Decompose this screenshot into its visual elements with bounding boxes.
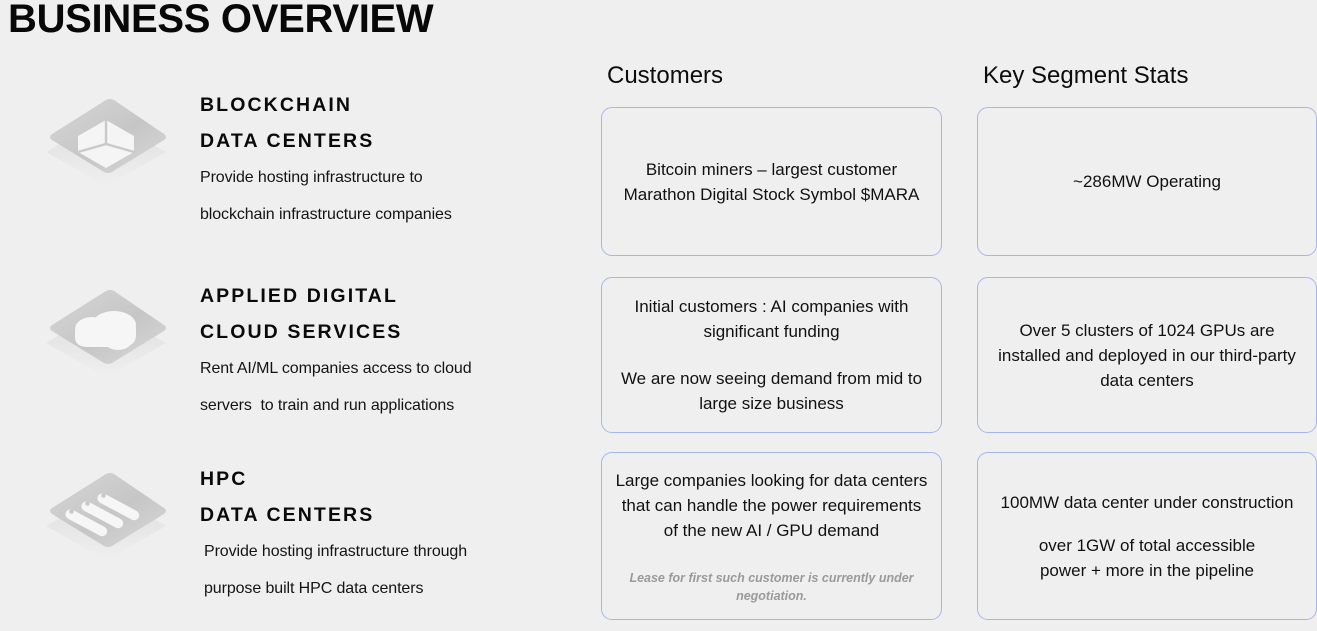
card-line: power + more in the pipeline [1040,561,1254,580]
segment-desc-line2: servers to train and run applications [200,387,595,424]
card-line: 100MW data center under construction [1001,493,1294,512]
segment-title-line2: CLOUD SERVICES [200,315,595,351]
segment-title-line1: APPLIED DIGITAL [200,279,595,315]
card-line: Marathon Digital Stock Symbol $MARA [624,185,920,204]
card-paragraph: Initial customers : AI companies with si… [634,294,908,344]
card-line: data centers [1100,371,1194,390]
card-paragraph: We are now seeing demand from mid to lar… [621,366,922,416]
segment-desc-line2: purpose built HPC data centers [200,570,595,607]
blockchain-cube-icon [30,94,182,190]
card-line: Over 5 clusters of 1024 GPUs are [1019,321,1274,340]
segment-title-line1: HPC [200,462,595,498]
segment-desc-line1: Provide hosting infrastructure through [200,533,595,570]
card-paragraph: 100MW data center under construction [1001,490,1294,515]
segment-desc-line2: blockchain infrastructure companies [200,196,595,233]
stat-card-blockchain: ~286MW Operating [977,107,1317,256]
card-paragraph: ~286MW Operating [1073,169,1221,194]
segment-blockchain: BLOCKCHAIN DATA CENTERS Provide hosting … [0,88,595,233]
stat-card-cloud-services: Over 5 clusters of 1024 GPUs are install… [977,277,1317,433]
slide-root: BUSINESS OVERVIEW [0,0,1317,631]
cloud-icon [30,285,182,381]
column-header-key-segment-stats: Key Segment Stats [983,61,1188,91]
column-header-customers: Customers [607,61,723,91]
segment-text: HPC DATA CENTERS Provide hosting infrast… [200,462,595,607]
card-line: We are now seeing demand from mid to [621,369,922,388]
card-paragraph: Large companies looking for data centers… [616,468,928,543]
card-paragraph: over 1GW of total accessible power + mor… [1039,533,1255,583]
segment-desc-line1: Provide hosting infrastructure to [200,159,595,196]
card-footnote: Lease for first such customer is current… [612,569,931,605]
card-line: that can handle the power requirements [622,496,922,515]
card-paragraph: Over 5 clusters of 1024 GPUs are install… [998,318,1296,393]
server-rack-icon [30,468,182,564]
card-line: large size business [699,394,844,413]
card-line: significant funding [703,322,839,341]
segments-list: BLOCKCHAIN DATA CENTERS Provide hosting … [0,88,595,607]
segment-title-line1: BLOCKCHAIN [200,88,595,124]
page-title: BUSINESS OVERVIEW [8,0,433,42]
card-line: Initial customers : AI companies with [634,297,908,316]
segment-text: BLOCKCHAIN DATA CENTERS Provide hosting … [200,88,595,233]
segment-title-line2: DATA CENTERS [200,124,595,160]
segment-hpc: HPC DATA CENTERS Provide hosting infrast… [0,462,595,607]
segment-title-line2: DATA CENTERS [200,498,595,534]
segment-cloud-services: APPLIED DIGITAL CLOUD SERVICES Rent AI/M… [0,279,595,424]
card-line: Large companies looking for data centers [616,471,928,490]
segment-text: APPLIED DIGITAL CLOUD SERVICES Rent AI/M… [200,279,595,424]
card-paragraph: Bitcoin miners – largest customer Marath… [624,157,920,207]
customer-card-hpc: Large companies looking for data centers… [601,452,942,620]
card-line: installed and deployed in our third-part… [998,346,1296,365]
segment-desc-line1: Rent AI/ML companies access to cloud [200,350,595,387]
stat-card-hpc: 100MW data center under construction ove… [977,452,1317,620]
card-line: Bitcoin miners – largest customer [646,160,897,179]
card-line: over 1GW of total accessible [1039,536,1255,555]
card-line: ~286MW Operating [1073,172,1221,191]
card-line: of the new AI / GPU demand [664,521,879,540]
customer-card-blockchain: Bitcoin miners – largest customer Marath… [601,107,942,256]
customer-card-cloud-services: Initial customers : AI companies with si… [601,277,942,433]
